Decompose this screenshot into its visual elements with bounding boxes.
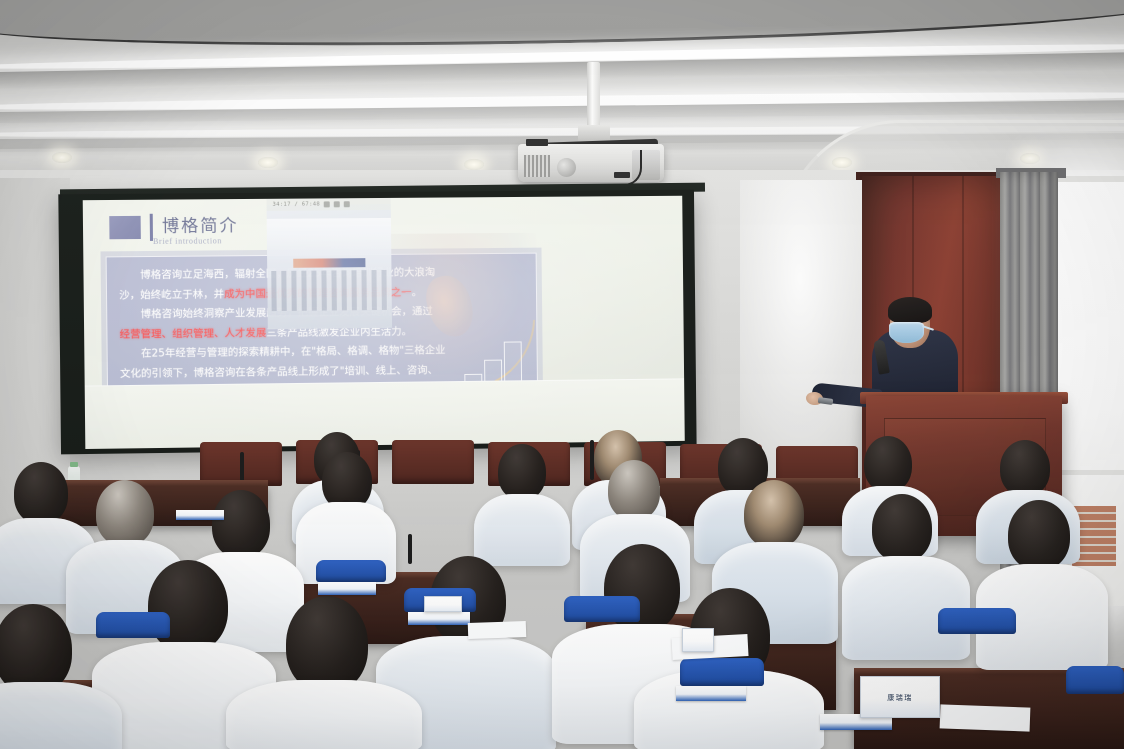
audience-head [148,560,228,652]
chair-seat-back[interactable] [96,612,170,638]
inset-video-room [267,218,392,315]
projector-cable [590,150,642,186]
projector-mount-pole [587,62,600,128]
chair-backrest[interactable] [392,440,474,484]
name-placard[interactable] [424,596,462,612]
chair-seat-back[interactable] [680,658,764,686]
inset-video-stage-banner [293,258,365,268]
slide-inset-video[interactable] [267,204,393,329]
audience-head [0,604,72,694]
desk-microphone [408,534,412,564]
bottle-cap [70,462,78,467]
paper-sheet[interactable] [468,621,527,639]
presentation-slide: 博格简介 Brief introduction 博格咨询立足海西，辐射全国，历经… [83,196,685,449]
name-placard[interactable]: 康瑞瑞 [860,676,940,718]
audience-head [872,494,932,562]
slide-title-square-icon [109,216,141,239]
name-placard[interactable] [682,628,714,652]
downlight-icon [1020,153,1040,164]
audience-torso [0,682,122,749]
projector-lens-icon [557,158,576,177]
audience-head [96,480,154,546]
video-player-toolbar[interactable]: 34:17 / 67:48 [266,198,390,211]
slide-title: 博格简介 [162,218,239,236]
audience-torso [474,494,570,566]
audience-head [1008,500,1070,570]
blue-booklet[interactable] [176,510,224,520]
audience-head [864,436,912,492]
fullscreen-icon[interactable] [344,201,350,207]
chair-seat-back[interactable] [316,560,386,582]
audience-head [286,596,368,692]
volume-icon[interactable] [334,201,340,207]
blue-booklet[interactable] [408,612,470,625]
audience-head [212,490,270,558]
downlight-icon [464,159,484,170]
slide-highlight-text: 经营管理、组织管理、人才发展 [120,327,267,341]
audience-head [498,444,546,500]
conference-room-photo: 博格简介 Brief introduction 博格咨询立足海西，辐射全国，历经… [0,0,1124,749]
chair-seat-back[interactable] [1066,666,1124,694]
downlight-icon [52,152,72,163]
downlight-icon [258,157,278,168]
audience-head [1000,440,1050,496]
video-timestamp: 34:17 / 67:48 [273,201,321,207]
blue-booklet[interactable] [318,582,376,595]
slide-subtitle: Brief introduction [153,236,222,246]
surgical-mask-icon [889,322,924,343]
audience-head [744,480,804,548]
audience-head [608,460,660,520]
projector-top-cap [526,139,548,146]
projection-screen: 博格简介 Brief introduction 博格咨询立足海西，辐射全国，历经… [58,190,696,455]
chair-seat-back[interactable] [564,596,640,622]
audience-head [14,462,68,524]
projection-screen-surface: 博格简介 Brief introduction 博格咨询立足海西，辐射全国，历经… [83,196,685,449]
slide-text: 文化的引领下，博格咨询在各条产品线上形成了"培训、线上、咨询、 [120,364,438,380]
presenter-hair [888,297,932,323]
inset-video-audience [271,270,388,311]
name-placard-text: 康瑞瑞 [861,693,939,703]
slide-text: 沙，始终屹立于林，并 [119,288,224,301]
downlight-icon [832,157,852,168]
blue-booklet[interactable] [676,686,746,701]
projector-connector [614,172,630,178]
chair-seat-back[interactable] [938,608,1016,634]
audience-torso [226,680,422,749]
projector-vent-icon [524,155,550,177]
paper-sheet[interactable] [940,704,1031,731]
play-icon[interactable] [324,201,330,207]
